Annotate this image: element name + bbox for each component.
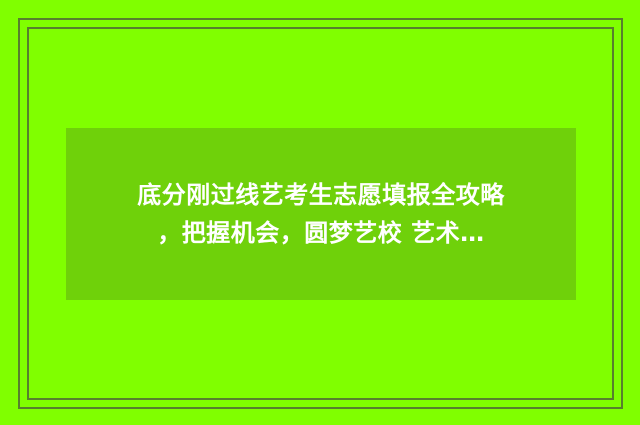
title-panel: 底分刚过线艺考生志愿填报全攻略 ，把握机会，圆梦艺校 艺术… [66, 128, 576, 300]
thumbnail-canvas: 底分刚过线艺考生志愿填报全攻略 ，把握机会，圆梦艺校 艺术… [0, 0, 640, 425]
page-title: 底分刚过线艺考生志愿填报全攻略 ，把握机会，圆梦艺校 艺术… [84, 176, 558, 252]
